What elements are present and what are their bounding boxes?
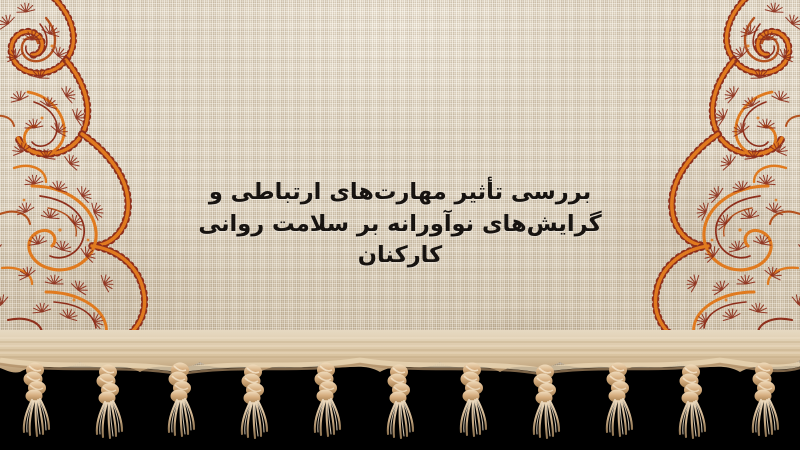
tassel xyxy=(97,365,123,439)
tassel xyxy=(680,365,706,439)
tassel xyxy=(607,363,633,437)
fringe-row xyxy=(0,330,800,450)
tassel xyxy=(534,365,560,439)
tassel xyxy=(461,363,487,437)
tassel xyxy=(242,365,268,439)
tassel xyxy=(315,363,341,437)
slide-title: بررسی تأثیر مهارت‌های ارتباطی و گرایش‌ها… xyxy=(195,177,605,272)
tassel xyxy=(388,365,414,439)
tassel xyxy=(753,363,779,437)
slide-canvas: بررسی تأثیر مهارت‌های ارتباطی و گرایش‌ها… xyxy=(0,0,800,450)
tassel xyxy=(24,363,50,437)
